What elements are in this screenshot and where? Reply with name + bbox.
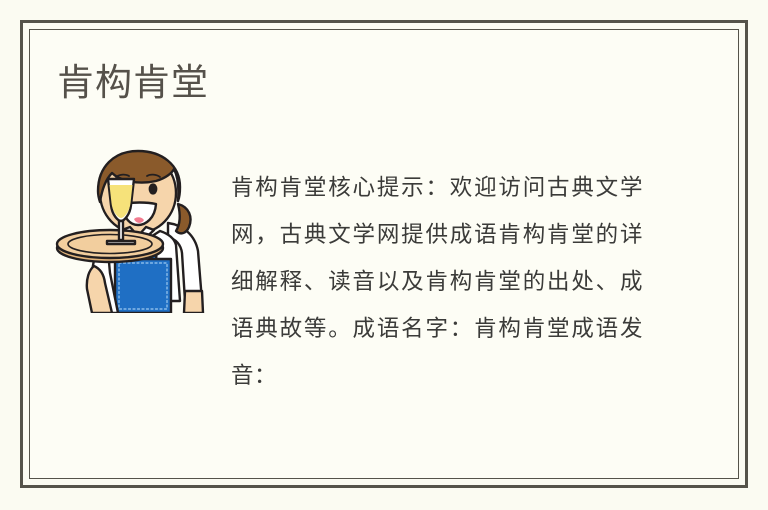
right-eye [149,183,158,194]
page-root: 肯构肯堂 [0,0,768,510]
apron [115,259,171,313]
wine-glass-stem [119,221,123,240]
wine-glass-foot [107,241,135,244]
waitress-illustration [52,141,214,313]
ponytail [176,204,191,233]
article-body-text: 肯构肯堂核心提示：欢迎访问古典文学网，古典文学网提供成语肯构肯堂的详细解释、读音… [231,165,643,400]
right-hand-arm [184,291,203,313]
page-title: 肯构肯堂 [57,60,209,106]
